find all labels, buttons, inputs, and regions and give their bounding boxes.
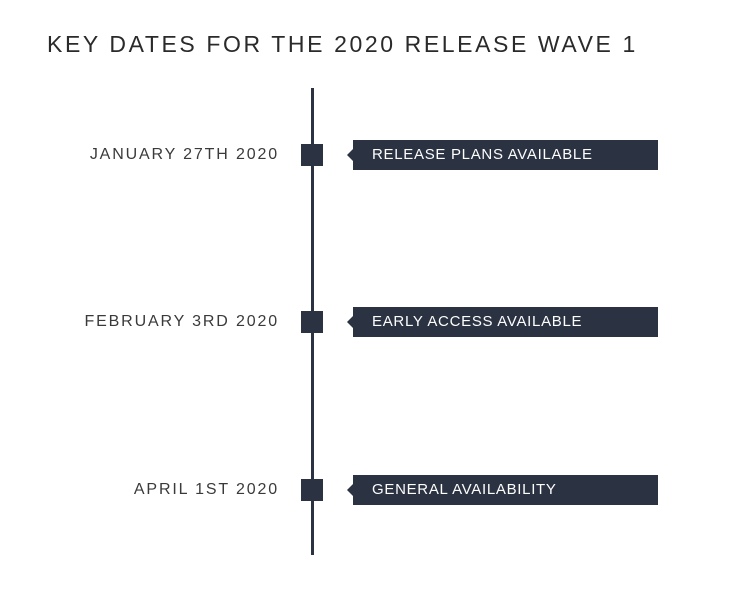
milestone-callout: GENERAL AVAILABILITY [347, 475, 658, 505]
milestone-callout: RELEASE PLANS AVAILABLE [347, 140, 658, 170]
square-marker-icon [301, 479, 323, 501]
timeline-row: APRIL 1ST 2020 GENERAL AVAILABILITY [0, 473, 732, 507]
timeline-row: JANUARY 27TH 2020 RELEASE PLANS AVAILABL… [0, 138, 732, 172]
milestone-date: APRIL 1ST 2020 [0, 473, 279, 507]
timeline-infographic: KEY DATES FOR THE 2020 RELEASE WAVE 1 JA… [0, 0, 732, 589]
page-title: KEY DATES FOR THE 2020 RELEASE WAVE 1 [47, 29, 638, 59]
square-marker-icon [301, 311, 323, 333]
square-marker-icon [301, 144, 323, 166]
milestone-event-label: EARLY ACCESS AVAILABLE [372, 307, 582, 337]
milestone-event-label: GENERAL AVAILABILITY [372, 475, 557, 505]
milestone-date: FEBRUARY 3RD 2020 [0, 305, 279, 339]
milestone-date: JANUARY 27TH 2020 [0, 138, 279, 172]
timeline-row: FEBRUARY 3RD 2020 EARLY ACCESS AVAILABLE [0, 305, 732, 339]
milestone-callout: EARLY ACCESS AVAILABLE [347, 307, 658, 337]
milestone-event-label: RELEASE PLANS AVAILABLE [372, 140, 593, 170]
